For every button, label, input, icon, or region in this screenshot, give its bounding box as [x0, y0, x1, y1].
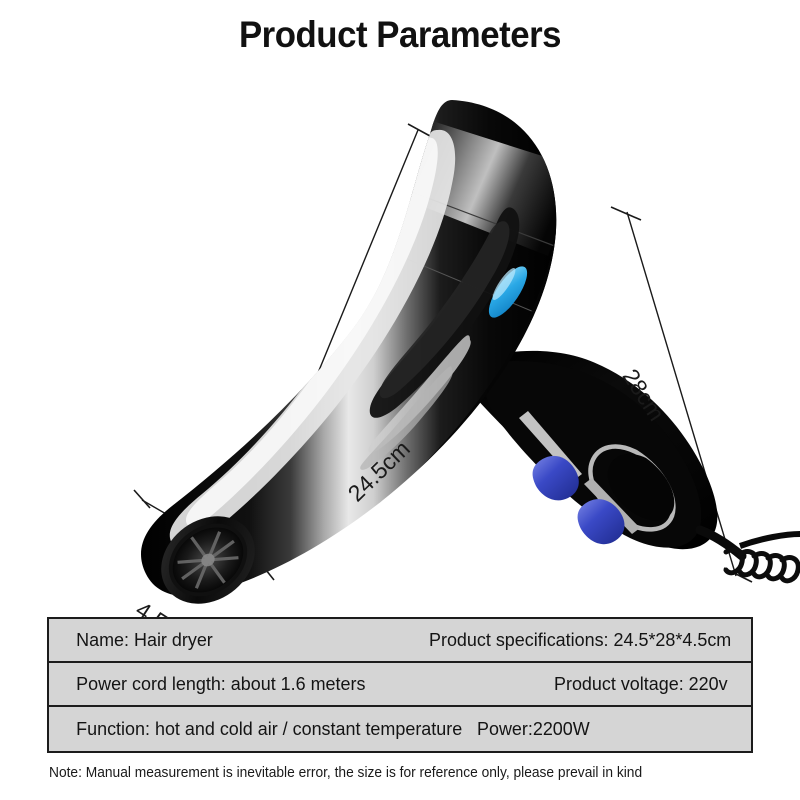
spec-specifications-label: Product specifications: 24.5*28*4.5cm	[429, 629, 741, 651]
hair-dryer-handle	[461, 351, 718, 549]
table-row: Function: hot and cold air / constant te…	[49, 707, 751, 751]
table-row: Name: Hair dryer Product specifications:…	[49, 619, 751, 663]
spec-power-label: Power:2200W	[477, 718, 743, 740]
spec-function-label: Function: hot and cold air / constant te…	[49, 718, 462, 740]
spec-name-label: Name: Hair dryer	[49, 629, 213, 651]
measurement-note: Note: Manual measurement is inevitable e…	[49, 765, 642, 781]
page-title: Product Parameters	[24, 14, 776, 56]
product-image: 24.5cm 28cm 4.5cm	[0, 60, 800, 610]
hair-dryer-illustration	[0, 60, 800, 610]
spec-voltage-label: Product voltage: 220v	[554, 673, 745, 695]
table-row: Power cord length: about 1.6 meters Prod…	[49, 663, 751, 707]
power-cord	[700, 530, 800, 581]
spec-cord-length-label: Power cord length: about 1.6 meters	[49, 673, 365, 695]
spec-table: Name: Hair dryer Product specifications:…	[47, 617, 753, 753]
